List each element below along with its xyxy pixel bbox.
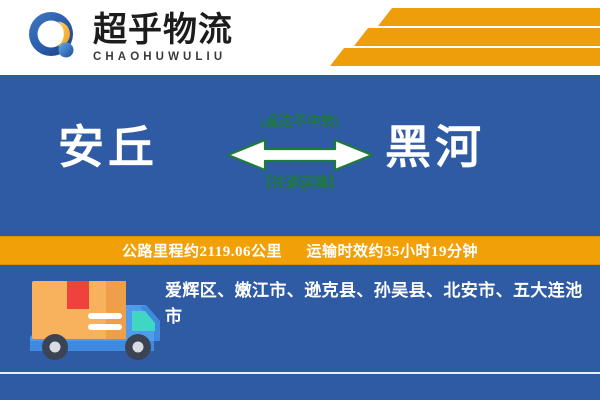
bottom-divider	[0, 372, 600, 374]
route-banner: 安丘 (直达不中转) 【往返运输】 黑河	[0, 75, 600, 236]
delivery-truck-icon	[28, 273, 168, 368]
route-middle-group: (直达不中转) 【往返运输】	[225, 115, 375, 193]
company-name-en: CHAOHUWULIU	[93, 51, 233, 63]
coverage-section: 爱辉区、嫩江市、逊克县、孙吴县、北安市、五大连池市	[0, 265, 600, 400]
double-headed-arrow-icon	[225, 138, 375, 172]
header-bar: 超乎物流 CHAOHUWULIU	[0, 0, 600, 75]
circle-q-logo-icon	[25, 8, 85, 68]
coverage-areas-text: 爱辉区、嫩江市、逊克县、孙吴县、北安市、五大连池市	[165, 278, 585, 329]
distance-text: 公路里程约2119.06公里	[122, 244, 282, 260]
slanted-stripes-decoration-icon	[330, 6, 600, 68]
direct-route-note: (直达不中转)	[225, 115, 375, 132]
brand-text: 超乎物流 CHAOHUWULIU	[93, 13, 233, 64]
round-trip-tag: 【往返运输】	[225, 176, 375, 193]
route-info-bar: 公路里程约2119.06公里 运输时效约35小时19分钟	[0, 236, 600, 265]
logistics-route-card: 超乎物流 CHAOHUWULIU 安丘 (直达不中转) 【往返运输】 黑河	[0, 0, 600, 400]
duration-text: 运输时效约35小时19分钟	[306, 244, 478, 260]
destination-city: 黑河	[385, 125, 485, 171]
origin-city: 安丘	[58, 125, 158, 171]
info-bar-content: 公路里程约2119.06公里 运输时效约35小时19分钟	[122, 240, 478, 261]
company-name-cn: 超乎物流	[93, 13, 233, 49]
brand-logo[interactable]: 超乎物流 CHAOHUWULIU	[25, 8, 233, 68]
